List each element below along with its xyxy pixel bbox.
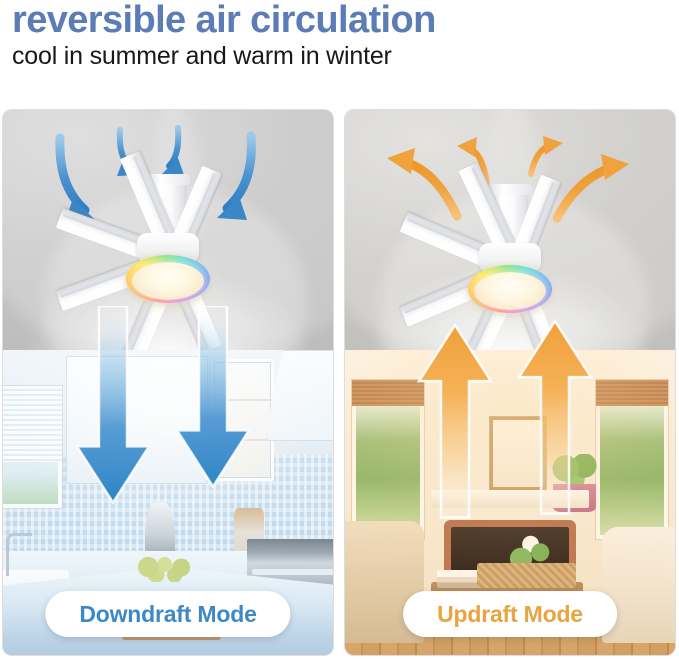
arrow-down-icon [177,306,249,486]
curved-arrow-down-icon [162,128,184,175]
arrow-up-icon [519,321,591,514]
mode-label-text: Updraft Mode [437,601,583,627]
airflow-arrows-up [345,317,675,568]
header: reversible air circulation cool in summe… [0,0,679,110]
curved-arrow-up-icon [557,154,629,218]
curved-arrow-up-icon [531,136,563,174]
panel-downdraft: Downdraft Mode [3,110,333,655]
arrow-up-icon [419,325,491,518]
fan-light-dome [132,262,204,300]
arrow-down-icon [77,306,149,503]
page-title: reversible air circulation [12,0,436,42]
green-apples [135,557,201,581]
curved-arrow-up-icon [387,148,457,216]
panel-updraft: Updraft Mode [345,110,675,655]
range-handle [252,569,333,575]
airflow-arrows-down [3,306,333,557]
mode-label-text: Downdraft Mode [79,601,256,627]
mode-label-downdraft[interactable]: Downdraft Mode [45,591,290,637]
mode-label-updraft[interactable]: Updraft Mode [403,591,617,637]
fan-light-dome [474,272,546,310]
curved-arrow-down-icon [217,136,251,220]
page-subtitle: cool in summer and warm in winter [12,40,392,72]
